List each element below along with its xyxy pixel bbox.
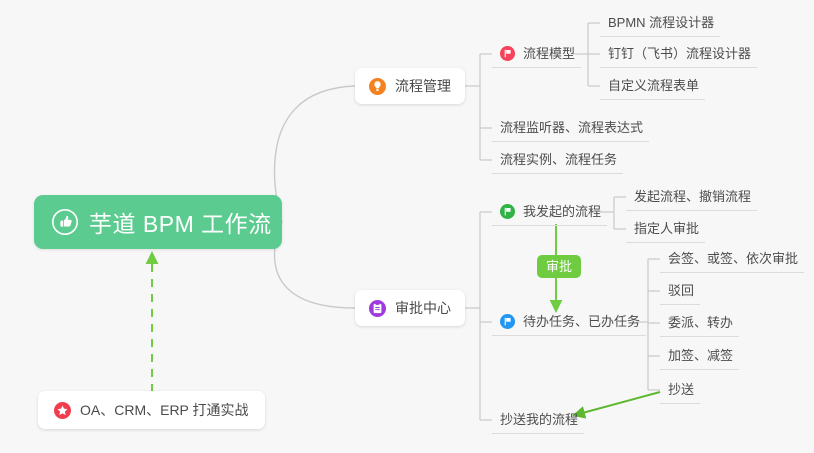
topic-cc[interactable]: 抄送 — [660, 376, 700, 404]
topic-multi-sign[interactable]: 会签、或签、依次审批 — [660, 245, 804, 273]
flag-green-icon — [500, 204, 515, 219]
flag-blue-icon — [500, 314, 515, 329]
topic-label-add-remove-sign: 加签、减签 — [668, 349, 733, 362]
topic-delegate-transfer[interactable]: 委派、转办 — [660, 309, 739, 337]
mindmap-canvas: 芋道 BPM 工作流 流程管理 流程模型 BPMN 流程设计器 钉钉（飞书）流程 — [0, 0, 814, 453]
topic-todo-done-tasks[interactable]: 待办任务、已办任务 — [492, 308, 646, 336]
note-integration-practice[interactable]: OA、CRM、ERP 打通实战 — [38, 391, 265, 429]
topic-label-todo-done-tasks: 待办任务、已办任务 — [523, 315, 640, 328]
topic-label-cc-to-me: 抄送我的流程 — [500, 413, 578, 426]
topic-label-bpmn-designer: BPMN 流程设计器 — [608, 16, 714, 29]
topic-label-process-instance: 流程实例、流程任务 — [500, 153, 617, 166]
topic-label-process-listener: 流程监听器、流程表达式 — [500, 121, 643, 134]
topic-label-dingtalk-designer: 钉钉（飞书）流程设计器 — [608, 47, 751, 60]
topic-label-assignee-approval: 指定人审批 — [634, 222, 699, 235]
topic-label-multi-sign: 会签、或签、依次审批 — [668, 252, 798, 265]
clipboard-purple-icon — [369, 300, 386, 317]
root-label: 芋道 BPM 工作流 — [89, 205, 272, 239]
topic-custom-form[interactable]: 自定义流程表单 — [600, 72, 705, 100]
topic-label-custom-form: 自定义流程表单 — [608, 79, 699, 92]
topic-bpmn-designer[interactable]: BPMN 流程设计器 — [600, 9, 720, 37]
note-label-integration-practice: OA、CRM、ERP 打通实战 — [80, 400, 249, 420]
flag-red-icon — [500, 46, 515, 61]
lightbulb-icon — [369, 78, 386, 95]
topic-my-started-process[interactable]: 我发起的流程 — [492, 198, 607, 226]
topic-label-process-model: 流程模型 — [523, 47, 575, 60]
topic-start-cancel[interactable]: 发起流程、撤销流程 — [626, 183, 757, 211]
topic-dingtalk-designer[interactable]: 钉钉（飞书）流程设计器 — [600, 40, 757, 68]
annotation-approve-label: 审批 — [537, 255, 581, 278]
topic-label-my-started-process: 我发起的流程 — [523, 205, 601, 218]
topic-label-cc: 抄送 — [668, 383, 694, 396]
topic-process-listener[interactable]: 流程监听器、流程表达式 — [492, 114, 649, 142]
branch-label-approval-center: 审批中心 — [395, 298, 451, 318]
root-node[interactable]: 芋道 BPM 工作流 — [34, 195, 282, 249]
topic-assignee-approval[interactable]: 指定人审批 — [626, 215, 705, 243]
topic-label-reject: 驳回 — [668, 284, 694, 297]
branch-node-approval-center[interactable]: 审批中心 — [355, 290, 465, 326]
topic-cc-to-me[interactable]: 抄送我的流程 — [492, 406, 584, 434]
topic-label-start-cancel: 发起流程、撤销流程 — [634, 190, 751, 203]
topic-process-instance[interactable]: 流程实例、流程任务 — [492, 146, 623, 174]
topic-label-delegate-transfer: 委派、转办 — [668, 316, 733, 329]
branch-node-process-management[interactable]: 流程管理 — [355, 68, 465, 104]
thumbs-up-icon — [52, 209, 78, 235]
star-red-icon — [54, 402, 71, 419]
topic-process-model[interactable]: 流程模型 — [492, 40, 581, 68]
topic-add-remove-sign[interactable]: 加签、减签 — [660, 342, 739, 370]
topic-reject[interactable]: 驳回 — [660, 277, 700, 305]
branch-label-process-management: 流程管理 — [395, 76, 451, 96]
